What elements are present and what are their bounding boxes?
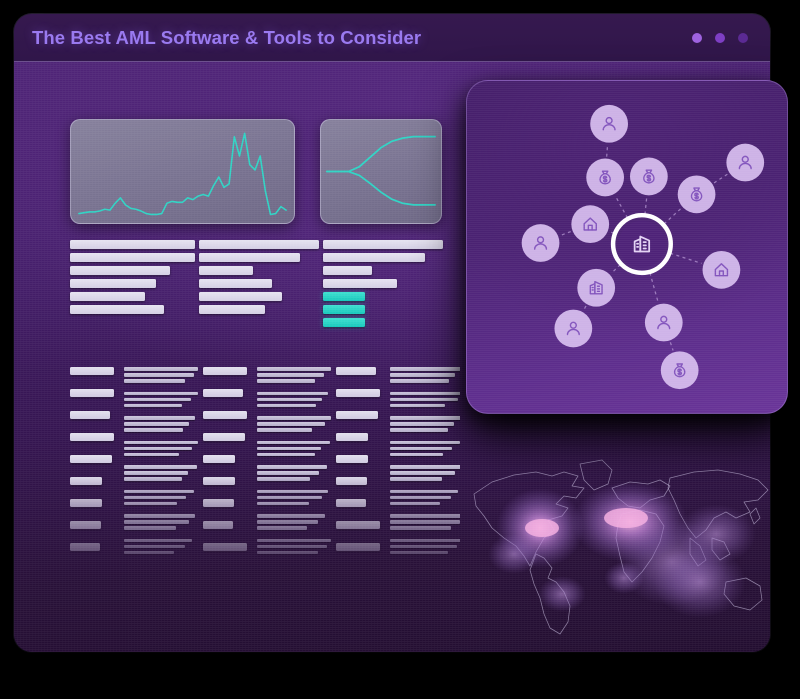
- network-edge: [714, 174, 728, 183]
- detail-line: [124, 514, 195, 518]
- detail-line: [257, 526, 307, 530]
- detail-label: [70, 521, 101, 529]
- detail-line-group: [257, 514, 331, 530]
- detail-label: [336, 389, 380, 397]
- detail-label: [336, 521, 380, 529]
- detail-line: [257, 404, 316, 408]
- detail-line: [124, 502, 177, 506]
- detail-line: [390, 453, 443, 457]
- detail-line: [124, 428, 183, 432]
- detail-line: [257, 441, 330, 445]
- detail-label: [336, 455, 368, 463]
- detail-text-columns: [70, 367, 460, 617]
- network-edge: [645, 197, 647, 214]
- detail-line-group: [124, 367, 198, 383]
- detail-line: [257, 453, 315, 457]
- detail-label: [70, 499, 102, 507]
- transaction-volume-line-chart: [71, 120, 294, 223]
- detail-line: [257, 373, 324, 377]
- detail-label: [203, 477, 235, 485]
- detail-line: [390, 404, 445, 408]
- detail-line: [390, 422, 454, 426]
- detail-label: [203, 543, 247, 551]
- detail-line-group: [257, 367, 331, 383]
- bar-row-5: [70, 292, 145, 301]
- bar-row-2: [323, 253, 425, 262]
- detail-line: [124, 416, 195, 420]
- detail-line: [390, 496, 451, 500]
- detail-line: [390, 551, 448, 555]
- detail-line: [390, 373, 455, 377]
- detail-line-group: [390, 392, 464, 408]
- network-node-money-bag[interactable]: [661, 351, 699, 389]
- detail-label: [203, 389, 243, 397]
- detail-label: [70, 477, 102, 485]
- detail-label: [70, 455, 112, 463]
- detail-line: [257, 422, 325, 426]
- detail-line: [257, 392, 328, 396]
- detail-line: [390, 447, 452, 451]
- detail-line: [124, 551, 174, 555]
- detail-column-2: [203, 367, 331, 565]
- detail-line: [124, 441, 198, 445]
- detail-label: [70, 543, 100, 551]
- network-edge: [607, 145, 608, 157]
- detail-label: [203, 521, 233, 529]
- detail-line-group: [257, 490, 331, 506]
- detail-line: [124, 392, 198, 396]
- network-node-home[interactable]: [703, 251, 741, 289]
- detail-label: [336, 499, 366, 507]
- detail-line: [124, 373, 194, 377]
- detail-line: [257, 545, 327, 549]
- detail-line-group: [124, 416, 198, 432]
- detail-label: [70, 411, 110, 419]
- detail-line-group: [124, 490, 198, 506]
- bar-row-1: [323, 240, 443, 249]
- detail-label: [336, 367, 376, 375]
- network-node-person[interactable]: [554, 310, 592, 348]
- detail-label: [336, 411, 378, 419]
- detail-label: [336, 477, 367, 485]
- illustration-stage: The Best AML Software & Tools to Conside…: [0, 0, 800, 699]
- detail-line: [124, 520, 189, 524]
- detail-line: [124, 367, 198, 371]
- bar-chart-group-2[interactable]: [199, 240, 319, 318]
- detail-line: [257, 398, 322, 402]
- detail-line: [124, 471, 188, 475]
- entity-network-graph: [467, 81, 787, 413]
- detail-line-group: [257, 416, 331, 432]
- network-node-home[interactable]: [571, 205, 609, 243]
- detail-line: [124, 539, 192, 543]
- detail-label: [203, 455, 235, 463]
- detail-line: [390, 398, 458, 402]
- detail-line: [257, 379, 315, 383]
- window-controls[interactable]: [692, 33, 748, 43]
- network-graph-svg: [467, 81, 787, 413]
- entity-network-panel[interactable]: [466, 80, 788, 414]
- detail-label-stack: [336, 367, 380, 565]
- network-edge: [670, 342, 673, 350]
- detail-label-stack: [203, 367, 247, 565]
- detail-line-group: [390, 367, 464, 383]
- network-node-bank-building[interactable]: [577, 269, 615, 307]
- detail-line-group: [257, 392, 331, 408]
- network-edge: [670, 253, 701, 263]
- detail-line-group: [390, 416, 464, 432]
- bar-row-6: [199, 305, 265, 314]
- network-node-person[interactable]: [726, 144, 764, 182]
- detail-line: [257, 428, 312, 432]
- detail-line: [257, 416, 331, 420]
- detail-line: [257, 551, 318, 555]
- bar-row-1: [70, 240, 195, 249]
- bar-flagged-3: [323, 318, 365, 327]
- bar-chart-group-1[interactable]: [70, 240, 195, 318]
- network-node-person[interactable]: [522, 224, 560, 262]
- network-node-bank-building[interactable]: [613, 215, 671, 273]
- detail-line: [257, 477, 310, 481]
- detail-line: [390, 502, 440, 506]
- detail-line: [124, 422, 189, 426]
- detail-line: [257, 496, 322, 500]
- dashboard-left-column: [58, 62, 458, 652]
- detail-line: [124, 545, 185, 549]
- detail-line-group: [257, 539, 331, 555]
- risk-divergence-chart-card[interactable]: [320, 119, 442, 224]
- transaction-volume-chart-card[interactable]: [70, 119, 295, 224]
- detail-label: [70, 367, 114, 375]
- detail-line: [124, 379, 185, 383]
- bar-row-3: [70, 266, 170, 275]
- bar-row-6: [70, 305, 164, 314]
- detail-line-group: [124, 539, 198, 555]
- bar-row-3: [323, 266, 372, 275]
- detail-line-group: [124, 465, 198, 481]
- detail-line: [124, 477, 182, 481]
- window-titlebar: The Best AML Software & Tools to Conside…: [14, 14, 770, 62]
- bar-row-3: [199, 266, 253, 275]
- detail-line: [390, 526, 451, 530]
- network-edge: [615, 196, 627, 218]
- detail-line-group: [124, 392, 198, 408]
- detail-line-stack: [124, 367, 198, 565]
- bar-flagged-2: [323, 305, 365, 314]
- detail-line: [390, 379, 449, 383]
- detail-label: [203, 499, 234, 507]
- detail-line-group: [124, 441, 198, 457]
- detail-label: [336, 433, 368, 441]
- network-edge: [560, 232, 571, 236]
- detail-line: [124, 526, 176, 530]
- bar-row-2: [70, 253, 195, 262]
- detail-label: [336, 543, 380, 551]
- detail-label: [203, 433, 245, 441]
- detail-label-stack: [70, 367, 114, 565]
- detail-label: [70, 433, 114, 441]
- bar-row-4: [70, 279, 156, 288]
- detail-line: [390, 367, 461, 371]
- detail-label: [203, 411, 247, 419]
- detail-line: [124, 465, 197, 469]
- window-dot-light-icon[interactable]: [692, 33, 702, 43]
- detail-line: [390, 428, 448, 432]
- detail-line-group: [124, 514, 198, 530]
- detail-line: [124, 453, 179, 457]
- detail-line: [124, 404, 182, 408]
- network-node-person[interactable]: [590, 105, 628, 143]
- detail-line: [257, 520, 318, 524]
- detail-line: [257, 471, 319, 475]
- world-map-svg: [444, 442, 770, 652]
- detail-line: [257, 367, 331, 371]
- detail-line: [124, 398, 191, 402]
- detail-line: [257, 447, 321, 451]
- detail-line: [124, 490, 194, 494]
- network-edge: [650, 273, 658, 303]
- network-edge: [611, 265, 620, 274]
- world-risk-heatmap[interactable]: [444, 442, 770, 652]
- detail-line: [124, 496, 186, 500]
- detail-line-group: [257, 465, 331, 481]
- detail-line: [257, 514, 325, 518]
- window-dot-mid-icon[interactable]: [715, 33, 725, 43]
- network-node-money-bag[interactable]: [586, 159, 624, 197]
- detail-line: [390, 392, 464, 396]
- network-node-person[interactable]: [645, 304, 683, 342]
- detail-line: [257, 490, 328, 494]
- bar-chart-group-3[interactable]: [323, 240, 443, 331]
- bar-row-5: [199, 292, 282, 301]
- detail-line-stack: [257, 367, 331, 565]
- detail-line: [390, 416, 463, 420]
- heatmap-blobs: [488, 482, 756, 618]
- detail-line: [124, 447, 192, 451]
- bar-flagged-1: [323, 292, 365, 301]
- detail-label: [70, 389, 114, 397]
- bar-row-4: [323, 279, 397, 288]
- risk-divergence-line-chart: [321, 120, 441, 223]
- network-edge: [664, 208, 681, 224]
- detail-line: [257, 465, 327, 469]
- window-dot-dark-icon[interactable]: [738, 33, 748, 43]
- bar-row-4: [199, 279, 272, 288]
- detail-line: [390, 477, 442, 481]
- network-node-money-bag[interactable]: [678, 175, 716, 213]
- bar-row-2: [199, 253, 300, 262]
- detail-line-group: [257, 441, 331, 457]
- detail-line: [257, 502, 309, 506]
- bar-row-1: [199, 240, 319, 249]
- network-nodes: [522, 105, 764, 389]
- detail-label: [203, 367, 247, 375]
- detail-column-1: [70, 367, 198, 565]
- network-edge: [584, 306, 586, 310]
- network-node-money-bag[interactable]: [630, 158, 668, 196]
- page-title: The Best AML Software & Tools to Conside…: [32, 27, 421, 49]
- detail-line: [257, 539, 331, 543]
